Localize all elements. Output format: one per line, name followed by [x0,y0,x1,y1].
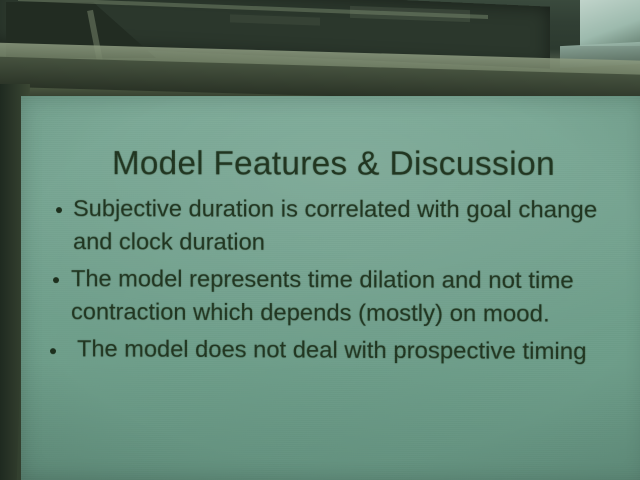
slide-bullet-2: The model represents time dilation and n… [37,262,631,331]
projected-slide-photo: Model Features & Discussion Subjective d… [0,0,640,480]
window-light-patch [580,0,640,46]
slide-bullet-list: Subjective duration is correlated with g… [37,192,631,373]
projection-bottom-shading [21,360,640,480]
slide-bullet-3: The model does not deal with prospective… [37,332,631,368]
room-ceiling [0,0,640,102]
slide-title: Model Features & Discussion [21,144,640,183]
slide-bullet-1: Subjective duration is correlated with g… [37,192,631,260]
presentation-slide: Model Features & Discussion Subjective d… [21,96,640,480]
